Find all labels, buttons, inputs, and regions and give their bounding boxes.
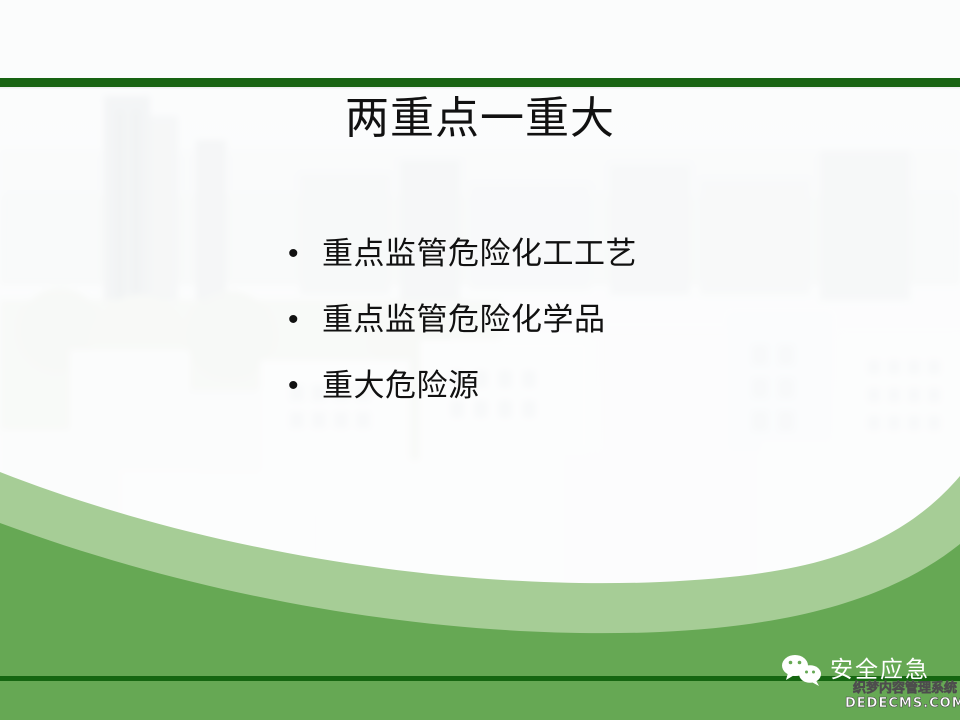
- watermark: 织梦内容管理系统 DEDECMS.COM: [845, 682, 960, 711]
- list-item: • 重点监管危险化工工艺: [284, 232, 904, 298]
- list-item-label: 重点监管危险化学品: [322, 298, 606, 342]
- bullet-list: • 重点监管危险化工工艺 • 重点监管危险化学品 • 重大危险源: [284, 232, 904, 430]
- bullet-dot-icon: •: [284, 364, 322, 408]
- wechat-icon: [780, 653, 824, 687]
- list-item: • 重点监管危险化学品: [284, 298, 904, 364]
- watermark-cn-text: 织梦内容管理系统: [845, 682, 960, 696]
- top-accent-rule: [0, 78, 960, 87]
- top-accent-rule-shadow: [0, 87, 960, 90]
- list-item-label: 重点监管危险化工工艺: [322, 232, 637, 276]
- list-item: • 重大危险源: [284, 364, 904, 430]
- page-title: 两重点一重大: [0, 96, 960, 142]
- watermark-en-text: DEDECMS.COM: [845, 696, 960, 711]
- list-item-label: 重大危险源: [322, 364, 480, 408]
- bullet-dot-icon: •: [284, 298, 322, 342]
- slide-canvas: 两重点一重大 • 重点监管危险化工工艺 • 重点监管危险化学品 • 重大危险源: [0, 0, 960, 720]
- bullet-dot-icon: •: [284, 232, 322, 276]
